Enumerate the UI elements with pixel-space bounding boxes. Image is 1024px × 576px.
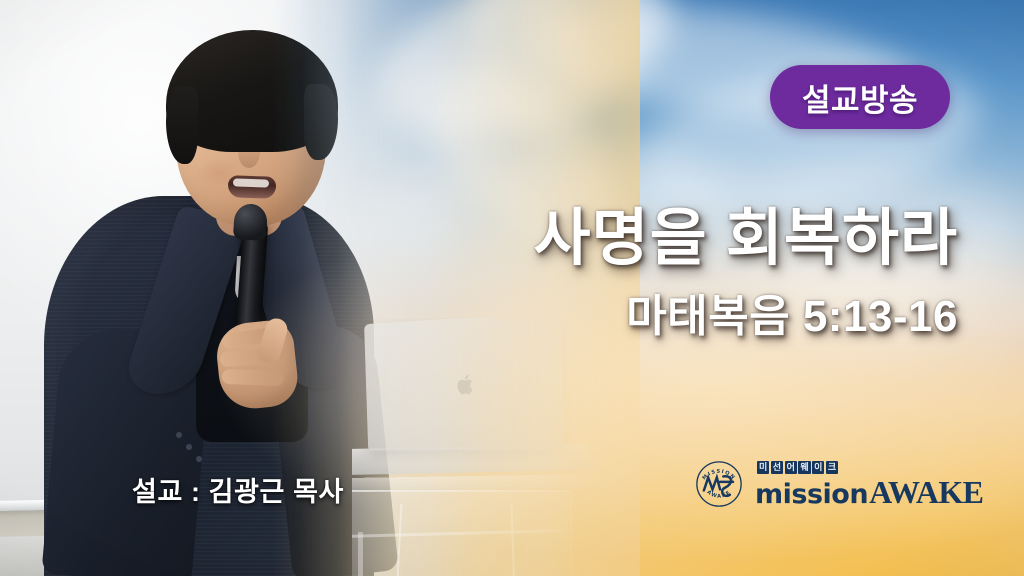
sermon-title: 사명을 회복하라 bbox=[398, 206, 958, 273]
wordmark-awake: AWAKE bbox=[869, 476, 983, 508]
wordmark-mission: mission bbox=[755, 481, 868, 508]
mission-awake-logo[interactable]: MISSION AWAKE 미 선 어 웨 이 크 mission A bbox=[692, 457, 983, 511]
sermon-title-block: 사명을 회복하라 마태복음 5:13-16 bbox=[398, 206, 958, 341]
korean-char: 미 bbox=[757, 461, 769, 474]
mission-awake-emblem-icon: MISSION AWAKE bbox=[692, 457, 746, 511]
broadcast-slide: 설교방송 사명을 회복하라 마태복음 5:13-16 설교 : 김광근 목사 M… bbox=[0, 0, 1024, 576]
wordmark-row: mission AWAKE bbox=[755, 476, 983, 508]
korean-char: 어 bbox=[785, 461, 797, 474]
korean-char: 크 bbox=[826, 461, 838, 474]
speaker-caption: 설교 : 김광근 목사 bbox=[132, 470, 344, 509]
broadcast-type-label: 설교방송 bbox=[802, 75, 918, 120]
korean-brand-strip: 미 선 어 웨 이 크 bbox=[757, 461, 983, 474]
korean-char: 선 bbox=[771, 461, 783, 474]
mission-awake-wordmark: 미 선 어 웨 이 크 mission AWAKE bbox=[755, 461, 983, 508]
korean-char: 웨 bbox=[798, 461, 810, 474]
broadcast-type-badge[interactable]: 설교방송 bbox=[770, 65, 950, 129]
korean-char: 이 bbox=[812, 461, 824, 474]
sermon-scripture-reference: 마태복음 5:13-16 bbox=[398, 293, 958, 341]
